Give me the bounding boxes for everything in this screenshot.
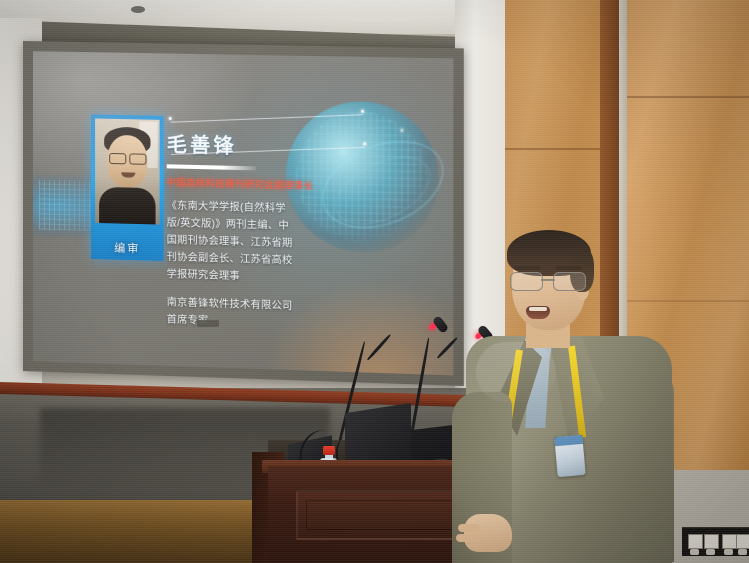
portrait-caption: 编审 xyxy=(91,239,164,257)
speaker-brow-left xyxy=(514,266,540,270)
speaker-name-badge xyxy=(554,435,585,477)
slide-deco-dot-2 xyxy=(361,110,364,113)
speaker-portrait-photo xyxy=(95,118,160,224)
speaker-portrait-card: 编审 xyxy=(91,114,164,261)
slide-text-block: 毛善锋 中国高校科技期刊研究会副理事长 《东南大学学报(自然科学版/英文版)》两… xyxy=(167,102,298,333)
screen-bottom-tab xyxy=(197,320,219,327)
speaker-shoulder-highlight xyxy=(476,342,556,402)
slide-role-highlight: 中国高校科技期刊研究会副理事长 xyxy=(167,175,298,191)
slide-name-underline xyxy=(167,164,257,170)
projection-screen-frame: 编审 毛善锋 中国高校科技期刊研究会副理事长 《东南大学学报(自然科学版/英文版… xyxy=(23,41,464,386)
eyeglasses-icon xyxy=(510,272,586,289)
speaker-mouth xyxy=(526,306,550,319)
slide-speaker-name: 毛善锋 xyxy=(167,128,298,160)
projection-screen: 编审 毛善锋 中国高校科技期刊研究会副理事长 《东南大学学报(自然科学版/英文版… xyxy=(33,51,453,375)
wall-outlet-plate[interactable] xyxy=(682,527,749,556)
speaker-person xyxy=(452,224,692,563)
slide-affiliation: 南京善锋软件技术有限公司首席专家 xyxy=(167,294,298,332)
slide-bio-paragraph: 《东南大学学报(自然科学版/英文版)》两刊主编、中国期刊协会理事、江苏省期刊协会… xyxy=(167,198,298,287)
slide-deco-dot-4 xyxy=(400,129,403,132)
conference-photo-scene: 编审 毛善锋 中国高校科技期刊研究会副理事长 《东南大学学报(自然科学版/英文版… xyxy=(0,0,749,563)
speaker-hand xyxy=(464,514,512,552)
slide-deco-dot-1 xyxy=(169,117,172,120)
ceiling-light-icon xyxy=(131,6,145,13)
presentation-slide: 编审 毛善锋 中国高校科技期刊研究会副理事长 《东南大学学报(自然科学版/英文版… xyxy=(33,51,453,375)
slide-deco-dot-3 xyxy=(363,142,366,145)
speaker-brow-right xyxy=(556,266,582,270)
